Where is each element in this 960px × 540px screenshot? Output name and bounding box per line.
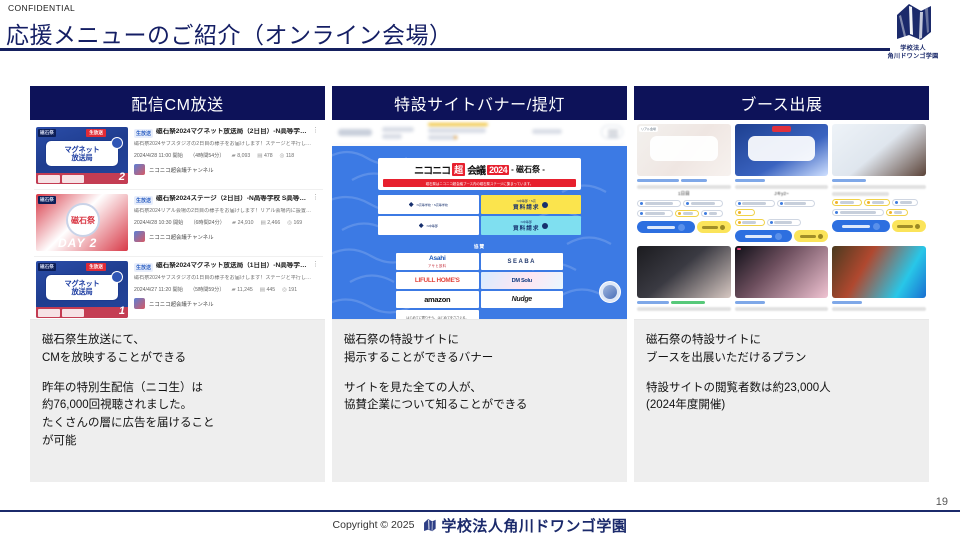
video-thumbnail[interactable]: 磁石祭 磁石祭 DAY 2 bbox=[36, 194, 128, 251]
mascot-face-icon bbox=[603, 285, 617, 299]
nav-link[interactable] bbox=[382, 127, 414, 132]
button-text-line bbox=[647, 226, 675, 229]
live-tag: 生放送 bbox=[134, 129, 153, 138]
pill-dot-icon bbox=[738, 202, 741, 205]
thumb-line-2: 放送局 bbox=[72, 288, 93, 296]
booth-pill[interactable] bbox=[735, 219, 765, 226]
booth-title: 1日目 bbox=[637, 191, 731, 197]
footer-brand: 学校法人角川ドワンゴ学園 bbox=[422, 515, 627, 536]
comments-value: 2,466 bbox=[267, 220, 280, 226]
pill-dot-icon bbox=[738, 211, 741, 214]
button-mini-label: N中等部 bbox=[513, 220, 539, 224]
booth-pill[interactable] bbox=[864, 199, 890, 206]
pill-dot-icon bbox=[780, 202, 783, 205]
channel-row[interactable]: ニコニコ超会議チャンネル bbox=[134, 231, 319, 242]
pill-dot-icon bbox=[686, 202, 689, 205]
nav-dot-icon bbox=[454, 136, 457, 139]
pill-line bbox=[872, 201, 884, 204]
gear-icon bbox=[542, 202, 548, 208]
comment-count: ▤2,466 bbox=[261, 220, 281, 226]
thumb-badge: 磁石祭 bbox=[38, 129, 56, 137]
slide: CONFIDENTIAL 応援メニューのご紹介（オンライン会場） 学校法人 角川… bbox=[0, 0, 960, 540]
thumb-blur-overlay bbox=[735, 246, 829, 298]
sponsor-logo-seaba[interactable]: SEABA bbox=[481, 253, 564, 270]
booth-title-placeholder bbox=[735, 185, 829, 189]
booth-card[interactable] bbox=[637, 246, 731, 311]
request-materials-button-2[interactable]: N中等部 資料請求 bbox=[481, 216, 582, 235]
niconico-video-list-screenshot: 磁石祭 生放送 マグネット 放送局 2 bbox=[30, 120, 325, 320]
thumb-bottom-bar bbox=[36, 307, 128, 318]
booth-pill[interactable] bbox=[637, 200, 681, 207]
booth-detail-button[interactable] bbox=[735, 230, 793, 242]
booth-pill[interactable] bbox=[735, 200, 775, 207]
sponsor-name: Asahi bbox=[429, 255, 445, 262]
thumb-white-plate bbox=[748, 136, 815, 161]
sponsor-name: SEABA bbox=[507, 259, 536, 265]
comment-icon: ▤ bbox=[260, 287, 265, 293]
video-datetime: 2024/4/28 10:30 開始 bbox=[134, 219, 183, 226]
booth-thumbnail[interactable] bbox=[735, 124, 829, 176]
thumb-red-accent bbox=[772, 126, 791, 132]
booth-pill-row bbox=[637, 210, 731, 217]
booth-pill[interactable] bbox=[886, 209, 908, 216]
channel-row[interactable]: ニコニコ超会議チャンネル bbox=[134, 298, 319, 309]
footer-org-name: 学校法人角川ドワンゴ学園 bbox=[441, 515, 627, 536]
booth-tag[interactable] bbox=[735, 179, 765, 182]
booth-badge-button[interactable] bbox=[892, 220, 926, 232]
booth-title-placeholder bbox=[832, 185, 926, 189]
pill-dot-icon bbox=[640, 212, 643, 215]
video-meta: 生放送 磁石祭2024マグネット放送局（1日目）-N高等学… ⋮ 磁石祭2024… bbox=[134, 261, 319, 318]
page-number: 19 bbox=[936, 496, 948, 508]
kadokawa-dwango-n-mark-icon bbox=[891, 2, 935, 44]
booth-pill-row bbox=[735, 219, 829, 226]
booth-pill[interactable] bbox=[767, 219, 801, 226]
booth-grid: リアル会場 1日目 bbox=[634, 120, 929, 315]
sponsor-logo-asahi[interactable]: Asahi アサヒ飲料 bbox=[396, 253, 479, 270]
channel-avatar-icon bbox=[134, 298, 145, 309]
channel-avatar-icon bbox=[134, 164, 145, 175]
booth-thumbnail[interactable] bbox=[832, 124, 926, 176]
likes-value: 191 bbox=[288, 287, 297, 293]
video-rows: 磁石祭 生放送 マグネット 放送局 2 bbox=[30, 120, 325, 320]
brand-line-1: 学校法人 bbox=[887, 45, 938, 53]
booth-tag-row bbox=[735, 179, 829, 182]
thumb-day-number: 1 bbox=[119, 305, 125, 317]
confidential-label: CONFIDENTIAL bbox=[8, 3, 75, 13]
thumb-chip bbox=[62, 309, 84, 317]
school-button-nsk[interactable]: N高等学校・S高等学校 bbox=[378, 195, 479, 214]
thumb-chip bbox=[38, 309, 60, 317]
mascot-avatar[interactable] bbox=[599, 281, 621, 303]
pill-line bbox=[742, 221, 756, 224]
description-paragraph-2: 昨年の特別生配信（ニコ生）は 約76,000回視聴されました。 たくさんの層に広… bbox=[42, 380, 313, 451]
booth-pill[interactable] bbox=[777, 200, 815, 207]
brand-logo: 学校法人 角川ドワンゴ学園 bbox=[870, 2, 956, 76]
pill-line bbox=[709, 212, 717, 215]
bell-icon bbox=[915, 224, 920, 229]
column-heading: ブース出展 bbox=[634, 86, 929, 120]
nav-link[interactable] bbox=[382, 134, 402, 139]
video-thumbnail[interactable]: 磁石祭 生放送 マグネット 放送局 1 bbox=[36, 261, 128, 318]
sponsor-name: Nudge bbox=[512, 296, 532, 303]
thumb-title-plate: マグネット 放送局 bbox=[45, 274, 119, 301]
pill-dot-icon bbox=[895, 201, 898, 204]
logo-kaigi: 会議 bbox=[467, 162, 485, 177]
event-logo-banner: ニコニコ 超 会議 2024 - 磁石祭 - 磁石祭はニコニコ超会議ブース内の磁… bbox=[378, 158, 581, 190]
sponsor-name: LIFULL HOME'S bbox=[415, 277, 460, 284]
video-title[interactable]: 磁石祭2024マグネット放送局（1日目）-N高等学… bbox=[156, 262, 309, 270]
sponsor-name: はじめてに寄りそう。 はじめてをささえる。 bbox=[406, 316, 468, 319]
views-value: 24,910 bbox=[238, 220, 254, 226]
spacer bbox=[646, 368, 917, 380]
pill-line bbox=[742, 202, 766, 205]
booth-tag[interactable] bbox=[735, 301, 765, 304]
list-item[interactable]: 磁石祭 磁石祭 DAY 2 生放送 磁石祭2024ステージ（2日目）-N高等学校… bbox=[34, 190, 323, 257]
special-site: ニコニコ 超 会議 2024 - 磁石祭 - 磁石祭はニコニコ超会議ブース内の磁… bbox=[332, 120, 627, 319]
button-label: N中等部・S高 資料請求 bbox=[513, 199, 539, 211]
site-body: ニコニコ 超 会議 2024 - 磁石祭 - 磁石祭はニコニコ超会議ブース内の磁… bbox=[332, 146, 627, 319]
thumb-blur-overlay bbox=[832, 246, 926, 298]
comments-value: 478 bbox=[264, 153, 273, 159]
pill-line bbox=[840, 201, 854, 204]
channel-avatar-icon bbox=[134, 231, 145, 242]
booth-title-placeholder bbox=[832, 192, 888, 196]
more-options-icon[interactable]: ⋮ bbox=[312, 195, 319, 201]
thumb-fest-emblem: 磁石祭 bbox=[66, 203, 100, 237]
live-tag: 生放送 bbox=[134, 263, 153, 272]
booth-pill-row bbox=[832, 199, 926, 206]
badge-text-line bbox=[702, 226, 718, 229]
pill-dot-icon bbox=[835, 211, 838, 214]
comment-icon: ▤ bbox=[257, 153, 262, 159]
thumb-blur-overlay bbox=[832, 124, 926, 176]
pill-dot-icon bbox=[889, 211, 892, 214]
booth-cta-row bbox=[735, 230, 829, 242]
video-meta: 生放送 磁石祭2024マグネット放送局（2日目）-N高等学… ⋮ 磁石祭2024… bbox=[134, 127, 319, 184]
description-paragraph-1: 磁石祭の特設サイトに ブースを出展いただけるプラン bbox=[646, 332, 917, 368]
pill-line bbox=[840, 211, 876, 214]
pill-line bbox=[894, 211, 902, 214]
booth-card[interactable] bbox=[832, 246, 926, 311]
pill-line bbox=[774, 221, 792, 224]
spacer bbox=[42, 368, 313, 380]
booth-pill[interactable] bbox=[683, 200, 723, 207]
thumb-badge: 磁石祭 bbox=[38, 196, 56, 204]
booth-title-placeholder bbox=[637, 185, 731, 189]
pill-dot-icon bbox=[678, 212, 681, 215]
video-datetime: 2024/4/28 11:00 開始 bbox=[134, 152, 183, 159]
booth-tag[interactable] bbox=[681, 179, 707, 182]
booth-thumbnail[interactable] bbox=[637, 246, 731, 298]
pill-dot-icon bbox=[738, 221, 741, 224]
thumb-circle-icon bbox=[111, 271, 123, 283]
channel-name[interactable]: ニコニコ超会議チャンネル bbox=[149, 166, 214, 174]
booth-pill[interactable] bbox=[675, 210, 699, 217]
booth-tag-row bbox=[832, 179, 926, 182]
views-value: 8,093 bbox=[237, 153, 250, 159]
like-icon: ◎ bbox=[287, 220, 292, 226]
booth-card[interactable] bbox=[832, 124, 926, 242]
description-paragraph-1: 磁石祭の特設サイトに 掲示することができるバナー bbox=[344, 332, 615, 368]
comment-icon: ▤ bbox=[261, 220, 266, 226]
channel-row[interactable]: ニコニコ超会議チャンネル bbox=[134, 164, 319, 175]
booth-tag-row bbox=[832, 301, 926, 304]
thumb-title-plate: マグネット 放送局 bbox=[45, 140, 119, 167]
like-count: ◎169 bbox=[287, 220, 302, 226]
copyright-text: Copyright © 2025 bbox=[333, 519, 415, 531]
video-title[interactable]: 磁石祭2024ステージ（2日目）-N高等学校 S高等… bbox=[156, 195, 309, 203]
live-tag: 生放送 bbox=[134, 196, 153, 205]
booth-pill[interactable] bbox=[735, 209, 755, 216]
button-mini-label: N高等学校・S高等学校 bbox=[417, 203, 448, 207]
video-summary: 磁石祭2024サブスタジオの1日目の様子をお届けします！ステージと平行し… bbox=[134, 275, 319, 281]
chevron-right-icon bbox=[775, 233, 782, 240]
booth-pill-row bbox=[735, 200, 829, 216]
sponsor-logo-amazon[interactable]: amazon bbox=[396, 291, 479, 308]
video-summary: 磁石祭2024リアル会場の2日目の様子をお届けします！リアル会場内に設置… bbox=[134, 208, 319, 214]
school-button-nchu[interactable]: N中等部 bbox=[378, 216, 479, 235]
video-duration: （4時間54分） bbox=[190, 152, 225, 159]
diamond-icon bbox=[419, 223, 424, 228]
thumb-chip bbox=[38, 175, 60, 183]
description-paragraph-2: 特設サイトの閲覧者数は約23,000人 (2024年度開催) bbox=[646, 380, 917, 416]
booth-badge-button[interactable] bbox=[697, 221, 731, 233]
thumb-circle-icon bbox=[111, 137, 123, 149]
like-count: ◎191 bbox=[282, 287, 297, 293]
nav-link[interactable] bbox=[428, 128, 486, 133]
list-item[interactable]: 磁石祭 生放送 マグネット 放送局 2 bbox=[34, 123, 323, 190]
thumb-bottom-bar bbox=[36, 173, 128, 184]
booth-pill[interactable] bbox=[701, 210, 723, 217]
button-mini-label: N中等部 bbox=[427, 224, 438, 228]
booth-tag[interactable] bbox=[637, 179, 679, 182]
video-duration: （6時間24分） bbox=[190, 219, 225, 226]
video-summary: 磁石祭2024サブスタジオの2日目の様子をお届けします！ステージと平行し… bbox=[134, 141, 319, 147]
sponsor-section-title: 協賛 bbox=[378, 244, 581, 250]
video-title[interactable]: 磁石祭2024マグネット放送局（2日目）-N高等学… bbox=[156, 128, 309, 136]
pill-dot-icon bbox=[835, 201, 838, 204]
thumb-fest-label: 磁石祭 bbox=[71, 215, 95, 226]
gear-icon bbox=[542, 223, 548, 229]
booth-pill[interactable] bbox=[637, 210, 673, 217]
channel-name[interactable]: ニコニコ超会議チャンネル bbox=[149, 300, 214, 308]
kadokawa-dwango-n-mark-icon bbox=[422, 518, 437, 533]
logo-strip-note: 磁石祭はニコニコ超会議ブース内の磁石祭ステージに集まっています。 bbox=[383, 179, 576, 187]
column-heading: 特設サイトバナー/提灯 bbox=[332, 86, 627, 120]
booth-pill[interactable] bbox=[892, 199, 918, 206]
thumb-day-number: DAY 2 bbox=[58, 236, 97, 250]
button-text-line bbox=[842, 225, 870, 228]
booth-thumbnail[interactable] bbox=[832, 246, 926, 298]
booth-tag-row bbox=[637, 301, 731, 304]
button-main-label: 資料請求 bbox=[513, 205, 539, 211]
booth-thumbnail[interactable] bbox=[735, 246, 829, 298]
sponsor-logo-extra[interactable]: はじめてに寄りそう。 はじめてをささえる。 bbox=[396, 310, 479, 319]
pill-line bbox=[683, 212, 693, 215]
booth-pill-row bbox=[832, 209, 926, 216]
sponsor-sub: アサヒ飲料 bbox=[428, 263, 446, 268]
site-button-grid: N高等学校・S高等学校 N中等部・S高 資料請求 bbox=[378, 195, 581, 235]
booth-tag[interactable] bbox=[832, 179, 866, 182]
sponsor-logo-nudge[interactable]: Nudge bbox=[481, 291, 564, 308]
sponsor-name: amazon bbox=[424, 295, 450, 304]
booth-cta-row bbox=[832, 220, 926, 232]
booth-cta-row bbox=[637, 221, 731, 233]
button-text-line bbox=[745, 235, 773, 238]
request-materials-button-1[interactable]: N中等部・S高 資料請求 bbox=[481, 195, 582, 214]
special-site-screenshot: ニコニコ 超 会議 2024 - 磁石祭 - 磁石祭はニコニコ超会議ブース内の磁… bbox=[332, 120, 627, 320]
more-options-icon[interactable]: ⋮ bbox=[312, 262, 319, 268]
pill-dot-icon bbox=[770, 221, 773, 224]
video-title-row: 生放送 磁石祭2024マグネット放送局（2日目）-N高等学… ⋮ bbox=[134, 128, 319, 138]
booth-card[interactable]: リアル会場 1日目 bbox=[637, 124, 731, 242]
description-paragraph-1: 磁石祭生放送にて、 CMを放映することができる bbox=[42, 332, 313, 368]
logo-super: 超 bbox=[452, 163, 465, 176]
pill-line bbox=[645, 212, 665, 215]
title-divider bbox=[0, 48, 890, 51]
thumb-live-badge: 生放送 bbox=[86, 263, 106, 271]
booth-badge-button[interactable] bbox=[794, 230, 828, 242]
event-logo: ニコニコ 超 会議 2024 - 磁石祭 - bbox=[414, 162, 545, 177]
bell-icon bbox=[720, 225, 725, 230]
booth-title-placeholder bbox=[637, 307, 731, 311]
slide-footer: Copyright © 2025 学校法人角川ドワンゴ学園 bbox=[0, 512, 960, 538]
booth-tag[interactable] bbox=[637, 301, 669, 304]
pill-dot-icon bbox=[640, 202, 643, 205]
pill-line bbox=[900, 201, 912, 204]
column-description: 磁石祭生放送にて、 CMを放映することができる 昨年の特別生配信（ニコ生）は 約… bbox=[30, 320, 325, 482]
like-icon: ◎ bbox=[280, 153, 285, 159]
column-booth-exhibit: ブース出展 リアル会場 1日目 bbox=[634, 86, 929, 482]
bell-icon bbox=[818, 234, 823, 239]
thumb-blur-overlay bbox=[637, 246, 731, 298]
views-value: 11,245 bbox=[237, 287, 252, 293]
views-icon: ▰ bbox=[232, 153, 236, 159]
booth-detail-button[interactable] bbox=[832, 220, 890, 232]
pill-line bbox=[691, 202, 715, 205]
thumb-day-number: 2 bbox=[119, 171, 125, 183]
column-description: 磁石祭の特設サイトに 掲示することができるバナー サイトを見た全ての人が、 協賛… bbox=[332, 320, 627, 482]
booth-card[interactable]: Jキy2~ bbox=[735, 124, 829, 242]
booth-title-placeholder bbox=[832, 307, 926, 311]
thumb-line-2: 放送局 bbox=[72, 154, 93, 162]
views-icon: ▰ bbox=[232, 287, 236, 293]
nav-menu-button[interactable] bbox=[601, 125, 623, 139]
booth-tag[interactable] bbox=[832, 301, 862, 304]
nav-link[interactable] bbox=[532, 129, 562, 134]
columns-container: 配信CM放送 磁石祭 生放送 マグネット 放送局 bbox=[30, 86, 930, 482]
nav-active-underline bbox=[428, 123, 488, 126]
thumb-live-badge: 生放送 bbox=[86, 129, 106, 137]
pill-line bbox=[645, 202, 673, 205]
column-broadcast-cm: 配信CM放送 磁石祭 生放送 マグネット 放送局 bbox=[30, 86, 325, 482]
thumb-white-plate bbox=[650, 136, 717, 161]
comments-value: 445 bbox=[266, 287, 275, 293]
video-meta: 生放送 磁石祭2024ステージ（2日目）-N高等学校 S高等… ⋮ 磁石祭202… bbox=[134, 194, 319, 251]
site-navbar bbox=[332, 120, 627, 146]
site-content: ニコニコ 超 会議 2024 - 磁石祭 - 磁石祭はニコニコ超会議ブース内の磁… bbox=[332, 146, 627, 319]
thumb-chip bbox=[62, 175, 84, 183]
booth-tag-row bbox=[735, 301, 829, 304]
booth-tag-row bbox=[637, 179, 731, 182]
views-icon: ▰ bbox=[232, 220, 236, 226]
column-site-banner: 特設サイトバナー/提灯 bbox=[332, 86, 627, 482]
list-item[interactable]: 磁石祭 生放送 マグネット 放送局 1 bbox=[34, 257, 323, 320]
logo-year: 2024 bbox=[487, 165, 509, 175]
more-options-icon[interactable]: ⋮ bbox=[312, 128, 319, 134]
booth-title: Jキy2~ bbox=[735, 191, 829, 197]
video-thumbnail[interactable]: 磁石祭 生放送 マグネット 放送局 2 bbox=[36, 127, 128, 184]
video-stats: 2024/4/27 11:20 開始 （5時間59分） ▰11,245 ▤445… bbox=[134, 286, 319, 293]
booth-grid-screenshot: リアル会場 1日目 bbox=[634, 120, 929, 320]
column-heading: 配信CM放送 bbox=[30, 86, 325, 120]
sponsor-name: DM Solu bbox=[512, 278, 532, 284]
button-label: N中等部 bbox=[427, 224, 438, 228]
pill-dot-icon bbox=[704, 212, 707, 215]
booth-corner-tag bbox=[737, 248, 741, 250]
view-count: ▰11,245 bbox=[232, 287, 253, 293]
nav-logo[interactable] bbox=[338, 129, 372, 136]
video-stats: 2024/4/28 11:00 開始 （4時間54分） ▰8,093 ▤478 … bbox=[134, 152, 319, 159]
booth-corner-tag: リアル会場 bbox=[639, 126, 658, 132]
button-label: N高等学校・S高等学校 bbox=[417, 203, 448, 207]
booth-pill[interactable] bbox=[832, 209, 884, 216]
spacer bbox=[344, 368, 615, 380]
booth-pill[interactable] bbox=[832, 199, 862, 206]
button-label: N中等部 資料請求 bbox=[513, 220, 539, 232]
sponsor-logo-lifull[interactable]: LIFULL HOME'S bbox=[396, 272, 479, 289]
like-count: ◎118 bbox=[280, 153, 295, 159]
pill-dot-icon bbox=[867, 201, 870, 204]
view-count: ▰24,910 bbox=[232, 220, 254, 226]
likes-value: 169 bbox=[294, 220, 303, 226]
chevron-right-icon bbox=[678, 224, 685, 231]
column-description: 磁石祭の特設サイトに ブースを出展いただけるプラン 特設サイトの閲覧者数は約23… bbox=[634, 320, 929, 482]
video-title-row: 生放送 磁石祭2024マグネット放送局（1日目）-N高等学… ⋮ bbox=[134, 262, 319, 272]
booth-thumbnail[interactable]: リアル会場 bbox=[637, 124, 731, 176]
view-count: ▰8,093 bbox=[232, 153, 251, 159]
comment-count: ▤478 bbox=[257, 153, 272, 159]
brand-text: 学校法人 角川ドワンゴ学園 bbox=[887, 45, 938, 61]
page-title: 応援メニューのご紹介（オンライン会場） bbox=[6, 16, 453, 50]
booth-detail-button[interactable] bbox=[637, 221, 695, 233]
chevron-right-icon bbox=[873, 223, 880, 230]
thumb-badge: 磁石祭 bbox=[38, 263, 56, 271]
booth-title-placeholder bbox=[735, 307, 829, 311]
button-main-label: 資料請求 bbox=[513, 226, 539, 232]
comment-count: ▤445 bbox=[260, 287, 275, 293]
video-title-row: 生放送 磁石祭2024ステージ（2日目）-N高等学校 S高等… ⋮ bbox=[134, 195, 319, 205]
logo-fest: - 磁石祭 - bbox=[511, 164, 545, 175]
diamond-icon bbox=[409, 202, 414, 207]
logo-nico: ニコニコ bbox=[414, 162, 450, 177]
booth-card[interactable] bbox=[735, 246, 829, 311]
like-icon: ◎ bbox=[282, 287, 287, 293]
video-duration: （5時間59分） bbox=[190, 286, 225, 293]
brand-line-2: 角川ドワンゴ学園 bbox=[887, 53, 938, 61]
booth-pill-row bbox=[637, 200, 731, 207]
channel-name[interactable]: ニコニコ超会議チャンネル bbox=[149, 233, 214, 241]
sponsor-logo-dm[interactable]: DM Solu bbox=[481, 272, 564, 289]
likes-value: 118 bbox=[286, 153, 294, 159]
hamburger-icon bbox=[608, 130, 618, 131]
badge-text-line bbox=[897, 225, 913, 228]
booth-tag[interactable] bbox=[671, 301, 705, 304]
video-datetime: 2024/4/27 11:20 開始 bbox=[134, 286, 183, 293]
video-stats: 2024/4/28 10:30 開始 （6時間24分） ▰24,910 ▤2,4… bbox=[134, 219, 319, 226]
sponsor-grid: Asahi アサヒ飲料 SEABA LIFULL HOME'S bbox=[378, 253, 581, 319]
